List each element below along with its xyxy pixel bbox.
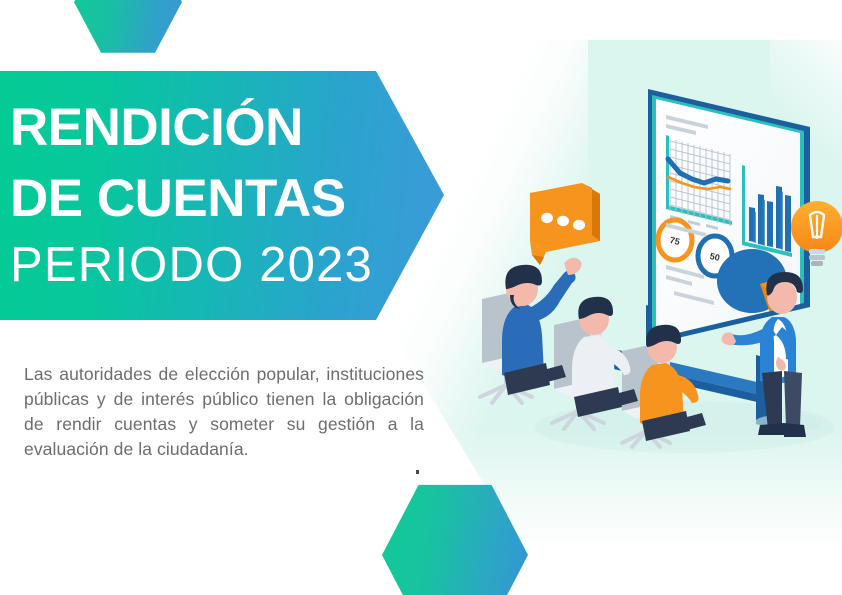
stray-period-mark (416, 470, 419, 474)
banner-title-line2: DE CUENTAS (10, 172, 444, 225)
analytics-presentation-illustration: 75 50 (470, 55, 842, 475)
hexagon-top-decoration (74, 0, 182, 56)
banner-title-line1: RENDICIÓN (10, 101, 444, 154)
speech-bubble-icon (530, 183, 600, 265)
title-banner: RENDICIÓN DE CUENTAS PERIODO 2023 (0, 71, 444, 320)
body-paragraph: Las autoridades de elección popular, ins… (24, 362, 424, 462)
poster-canvas: 75 50 (0, 0, 842, 595)
banner-subtitle-period: PERIODO 2023 (10, 241, 444, 290)
